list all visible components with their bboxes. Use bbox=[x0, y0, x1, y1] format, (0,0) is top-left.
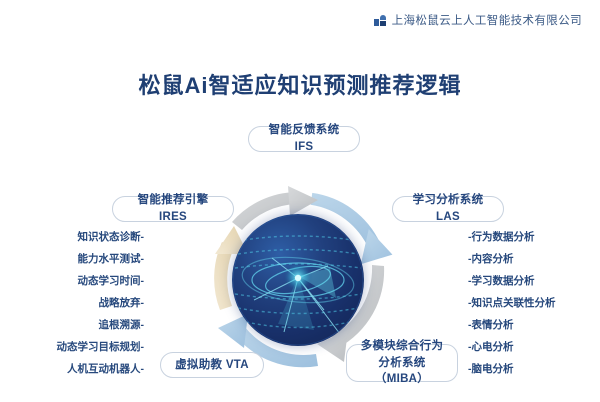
node-vta[interactable]: 虚拟助教 VTA bbox=[160, 352, 264, 378]
squirrel-cloud-logo-icon bbox=[374, 15, 386, 26]
list-item: -知识点关联性分析 bbox=[468, 298, 596, 309]
list-item: -心电分析 bbox=[468, 342, 596, 353]
list-item: -内容分析 bbox=[468, 254, 596, 265]
header: 上海松鼠云上人工智能技术有限公司 bbox=[374, 12, 582, 28]
list-item: 追根溯源- bbox=[14, 320, 144, 331]
list-item: -行为数据分析 bbox=[468, 232, 596, 243]
list-item: 动态学习时间- bbox=[14, 276, 144, 287]
las-feature-list: -行为数据分析 -内容分析 -学习数据分析 -知识点关联性分析 -表情分析 -心… bbox=[468, 232, 596, 386]
list-item: 战略放弃- bbox=[14, 298, 144, 309]
list-item: 知识状态诊断- bbox=[14, 232, 144, 243]
list-item: -学习数据分析 bbox=[468, 276, 596, 287]
node-miba[interactable]: 多模块综合行为分析系统（MIBA） bbox=[346, 344, 458, 382]
list-item: 人机互动机器人- bbox=[14, 364, 144, 375]
list-item: -脑电分析 bbox=[468, 364, 596, 375]
page-title: 松鼠Ai智适应知识预测推荐逻辑 bbox=[0, 68, 600, 100]
node-ifs[interactable]: 智能反馈系统 IFS bbox=[248, 126, 360, 152]
list-item: -表情分析 bbox=[468, 320, 596, 331]
list-item: 动态学习目标规划- bbox=[14, 342, 144, 353]
list-item: 能力水平测试- bbox=[14, 254, 144, 265]
slide-canvas: 上海松鼠云上人工智能技术有限公司 松鼠Ai智适应知识预测推荐逻辑 bbox=[0, 0, 600, 401]
node-las[interactable]: 学习分析系统 LAS bbox=[392, 196, 504, 222]
central-globe bbox=[232, 214, 364, 346]
company-name: 上海松鼠云上人工智能技术有限公司 bbox=[392, 12, 582, 28]
ires-feature-list: 知识状态诊断- 能力水平测试- 动态学习时间- 战略放弃- 追根溯源- 动态学习… bbox=[14, 232, 144, 386]
node-ires[interactable]: 智能推荐引擎 IRES bbox=[112, 196, 234, 222]
globe-sphere bbox=[232, 214, 364, 346]
